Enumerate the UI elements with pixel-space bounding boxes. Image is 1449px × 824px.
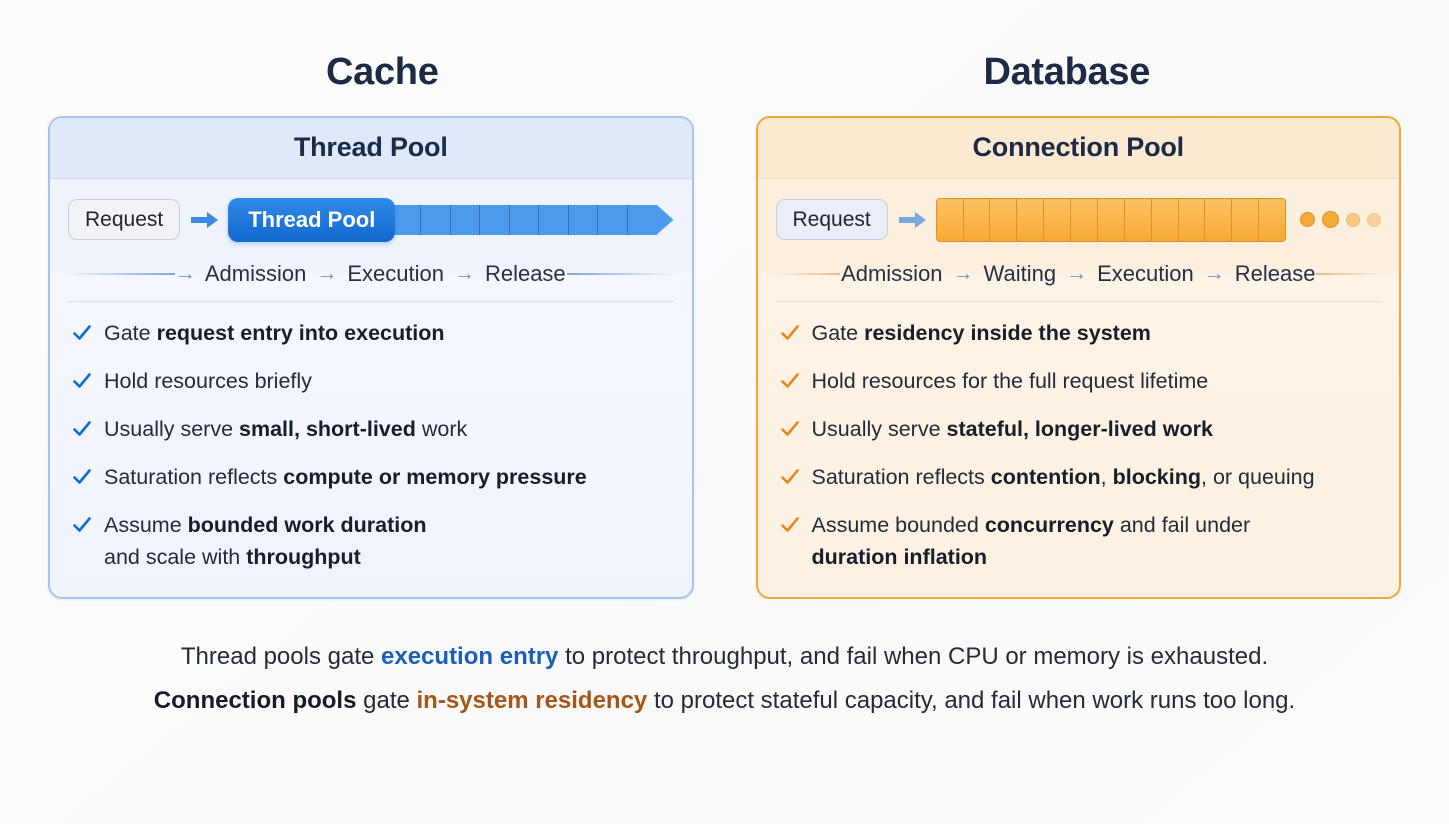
flow-step-admission: Admission [204, 261, 307, 287]
list-item: Gate request entry into execution [72, 318, 670, 349]
thread-pool-segment [569, 205, 599, 235]
connection-pool-overflow-dot [1322, 211, 1339, 228]
flow-step-release: Release [484, 261, 567, 287]
connection-pool-segment [1179, 199, 1206, 241]
connection-pool-card-header: Connection Pool [758, 118, 1400, 179]
connection-pool-segment [1044, 199, 1071, 241]
connection-pool-segment [1259, 199, 1285, 241]
flow-step-execution: Execution [1096, 261, 1195, 287]
thread-pool-segment [421, 205, 451, 235]
thread-pool-card-header: Thread Pool [50, 118, 692, 179]
connection-pool-card: Connection Pool Request Admission [756, 116, 1402, 599]
list-item: Saturation reflects contention, blocking… [780, 462, 1378, 493]
connection-pool-overflow-dot [1367, 213, 1381, 227]
list-item-label: Gate request entry into execution [104, 318, 445, 349]
thread-pool-segment [510, 205, 540, 235]
summary-fragment: execution entry [381, 643, 558, 670]
list-item: Saturation reflects compute or memory pr… [72, 462, 670, 493]
summary-text: Thread pools gate execution entry to pro… [0, 635, 1449, 722]
summary-fragment: Thread pools gate [181, 643, 381, 670]
connection-pool-segment [1098, 199, 1125, 241]
flow-arrow-icon-2: → [445, 262, 484, 286]
list-item: Assume bounded concurrency and fail unde… [780, 510, 1378, 572]
connection-pool-segment [990, 199, 1017, 241]
connection-pool-overflow-dot [1346, 213, 1360, 227]
connection-pool-segment [1071, 199, 1098, 241]
connection-pool-bullet-list: Gate residency inside the systemHold res… [758, 302, 1400, 597]
column-title-cache: Cache [48, 52, 717, 94]
list-item: Usually serve small, short-lived work [72, 414, 670, 445]
flow-arrow-icon-1: → [944, 262, 983, 286]
connection-pool-segment [1125, 199, 1152, 241]
thread-pool-segment [598, 205, 628, 235]
comparison-cards: Thread Pool Request Thread Pool [0, 116, 1449, 599]
flow-rule-left [776, 273, 841, 275]
request-chip-right: Request [776, 199, 888, 240]
list-item: Usually serve stateful, longer-lived wor… [780, 414, 1378, 445]
list-item-label: Saturation reflects compute or memory pr… [104, 462, 587, 493]
check-icon [72, 321, 92, 345]
column-title-database: Database [733, 52, 1402, 94]
connection-pool-segment [937, 199, 964, 241]
column-titles: Cache Database [0, 52, 1449, 94]
connection-pool-flow: Admission → Waiting → Execution → Releas… [758, 251, 1400, 301]
check-icon [780, 465, 800, 489]
connection-pool-overflow-dots [1300, 211, 1381, 228]
thread-pool-box: Thread Pool [228, 198, 395, 242]
flow-step-execution: Execution [346, 261, 445, 287]
flow-rule-right [1316, 273, 1381, 275]
list-item-label: Assume bounded work durationand scale wi… [104, 510, 427, 572]
list-item-label: Hold resources briefly [104, 366, 312, 397]
thread-pool-diagram: Request Thread Pool [50, 179, 692, 251]
connection-pool-segment [1232, 199, 1259, 241]
thread-pool-arrow-tip [657, 205, 674, 235]
thread-pool-segment [539, 205, 569, 235]
thread-pool-bullet-list: Gate request entry into executionHold re… [50, 302, 692, 597]
summary-fragment: Connection pools [154, 687, 357, 714]
summary-fragment: in-system residency [417, 687, 648, 714]
check-icon [72, 369, 92, 393]
flow-step-waiting: Waiting [983, 261, 1058, 287]
connection-pool-segment [1205, 199, 1232, 241]
connection-pool-segment-group [936, 198, 1286, 242]
list-item-label: Saturation reflects contention, blocking… [812, 462, 1315, 493]
connection-pool-diagram: Request [758, 179, 1400, 251]
thread-pool-segment-group [391, 205, 656, 235]
check-icon [780, 321, 800, 345]
diagram-canvas: Cache Database Thread Pool Request Threa… [0, 0, 1449, 824]
connection-pool-segment [964, 199, 991, 241]
check-icon [72, 465, 92, 489]
list-item-label: Usually serve stateful, longer-lived wor… [812, 414, 1213, 445]
arrow-right-icon [189, 209, 219, 231]
flow-arrow-icon-2: → [1057, 262, 1096, 286]
list-item: Gate residency inside the system [780, 318, 1378, 349]
check-icon [780, 417, 800, 441]
flow-arrow-icon-3: → [1195, 262, 1234, 286]
thread-pool-flow: → Admission → Execution → Release [50, 251, 692, 301]
thread-pool-segment [391, 205, 421, 235]
flow-step-release: Release [1234, 261, 1317, 287]
request-chip-left: Request [68, 199, 180, 240]
flow-arrow-icon-1: → [307, 262, 346, 286]
summary-fragment: to protect throughput, and fail when CPU… [558, 643, 1268, 670]
check-icon [72, 417, 92, 441]
flow-rule-right [567, 273, 674, 275]
connection-pool-overflow-dot [1300, 212, 1315, 227]
check-icon [780, 513, 800, 537]
list-item-label: Usually serve small, short-lived work [104, 414, 467, 445]
list-item-label: Gate residency inside the system [812, 318, 1151, 349]
list-item: Hold resources for the full request life… [780, 366, 1378, 397]
summary-fragment: to protect stateful capacity, and fail w… [647, 687, 1295, 714]
thread-pool-card: Thread Pool Request Thread Pool [48, 116, 694, 599]
flow-rule-left [68, 273, 175, 275]
list-item: Assume bounded work durationand scale wi… [72, 510, 670, 572]
thread-pool-bar: Thread Pool [228, 197, 673, 243]
thread-pool-segment [451, 205, 481, 235]
connection-pool-bar [936, 198, 1381, 242]
list-item: Hold resources briefly [72, 366, 670, 397]
connection-pool-segment [1152, 199, 1179, 241]
connection-pool-segment [1017, 199, 1044, 241]
check-icon [72, 513, 92, 537]
summary-fragment: gate [356, 687, 416, 714]
thread-pool-segment [628, 205, 657, 235]
flow-lead-arrow-icon: → [175, 262, 204, 286]
list-item-label: Assume bounded concurrency and fail unde… [812, 510, 1251, 572]
flow-step-admission: Admission [840, 261, 943, 287]
thread-pool-segment [480, 205, 510, 235]
thread-pool-segments [391, 205, 673, 235]
arrow-right-icon [897, 209, 927, 231]
check-icon [780, 369, 800, 393]
list-item-label: Hold resources for the full request life… [812, 366, 1209, 397]
